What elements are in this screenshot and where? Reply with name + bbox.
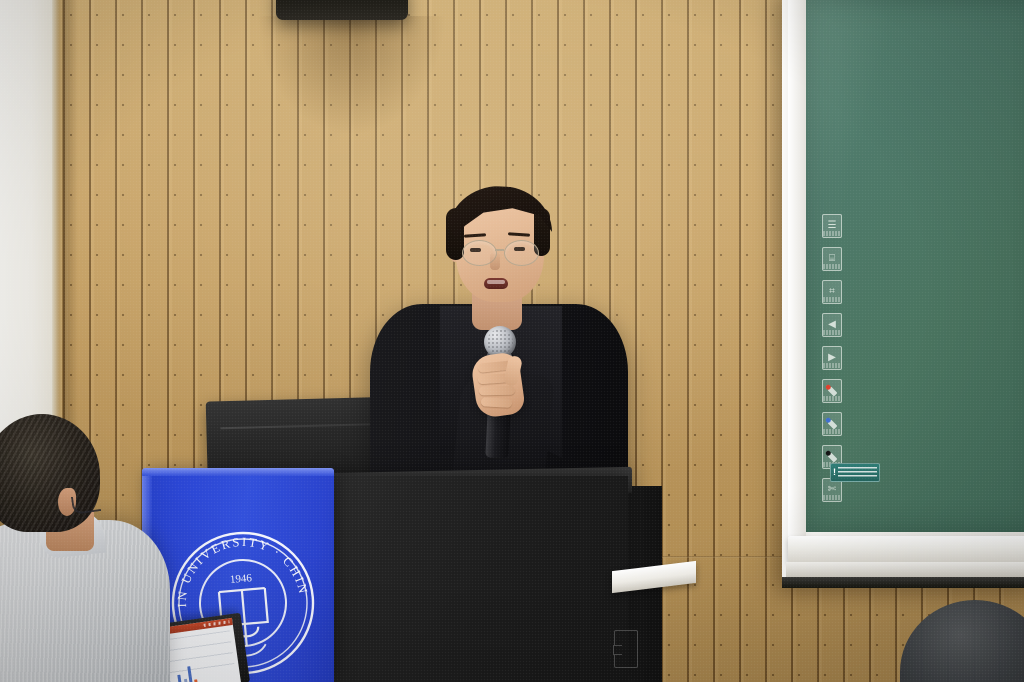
previous-page-icon[interactable]: ◀ (822, 313, 842, 337)
smartboard-toolbar[interactable]: ☰ ⌸ ⌗ ◀ ▶ (822, 214, 842, 502)
eraser-icon-glyph: ✄ (828, 485, 836, 495)
page-icon-glyph: ☰ (828, 221, 837, 231)
next-page-icon-glyph: ▶ (828, 353, 836, 363)
lectern (328, 476, 628, 682)
smartboard-lower-rail (786, 562, 1024, 578)
screenshot-icon[interactable]: ⌗ (822, 280, 842, 304)
glasses-icon (452, 240, 548, 264)
tool-caption (823, 264, 841, 269)
tool-caption (823, 297, 841, 302)
screenshot-icon-glyph: ⌗ (829, 287, 835, 297)
titlebar-menu-icon (203, 620, 229, 627)
blue-pen-icon[interactable] (822, 412, 842, 436)
mouth (484, 278, 508, 289)
tool-caption (823, 330, 841, 335)
left-wall-column-shadow (62, 0, 78, 470)
smartboard-base (782, 577, 1024, 588)
tool-caption (823, 429, 841, 434)
audience-glasses-icon (71, 493, 101, 515)
lecture-hall-photo: ☰ ⌸ ⌗ ◀ ▶ (0, 0, 1024, 682)
left-wall-column (0, 0, 52, 470)
red-pen-icon[interactable] (822, 379, 842, 403)
keyboard-icon[interactable]: ⌸ (822, 247, 842, 271)
university-banner-top (142, 468, 334, 476)
finger (479, 386, 515, 396)
previous-page-icon-glyph: ◀ (828, 320, 836, 330)
svg-text:1946: 1946 (229, 572, 252, 586)
cable-port-icon (614, 630, 638, 668)
tool-caption (823, 495, 841, 500)
smartboard-chalk-tray (788, 536, 1024, 562)
keyboard-icon-glyph: ⌸ (829, 254, 835, 264)
slide-bar (187, 666, 193, 682)
finger (481, 397, 512, 408)
nose (490, 252, 500, 270)
glasses-lens-right (504, 240, 539, 266)
glasses-bridge (495, 249, 504, 251)
warning-sticker: ! (830, 463, 880, 482)
slide-bar (177, 675, 182, 682)
loudspeaker-icon (276, 0, 408, 20)
warning-sticker-text (838, 467, 877, 478)
speaker-wall-shadow (256, 16, 446, 136)
tool-caption (823, 396, 841, 401)
smartboard[interactable]: ☰ ⌸ ⌗ ◀ ▶ (782, 0, 1024, 588)
smartboard-left-bezel (788, 0, 806, 536)
page-icon[interactable]: ☰ (822, 214, 842, 238)
warning-icon: ! (833, 468, 836, 477)
tool-caption (823, 363, 841, 368)
presenter (356, 186, 646, 506)
next-page-icon[interactable]: ▶ (822, 346, 842, 370)
left-wall-column-edge (52, 0, 62, 470)
tool-caption (823, 231, 841, 236)
